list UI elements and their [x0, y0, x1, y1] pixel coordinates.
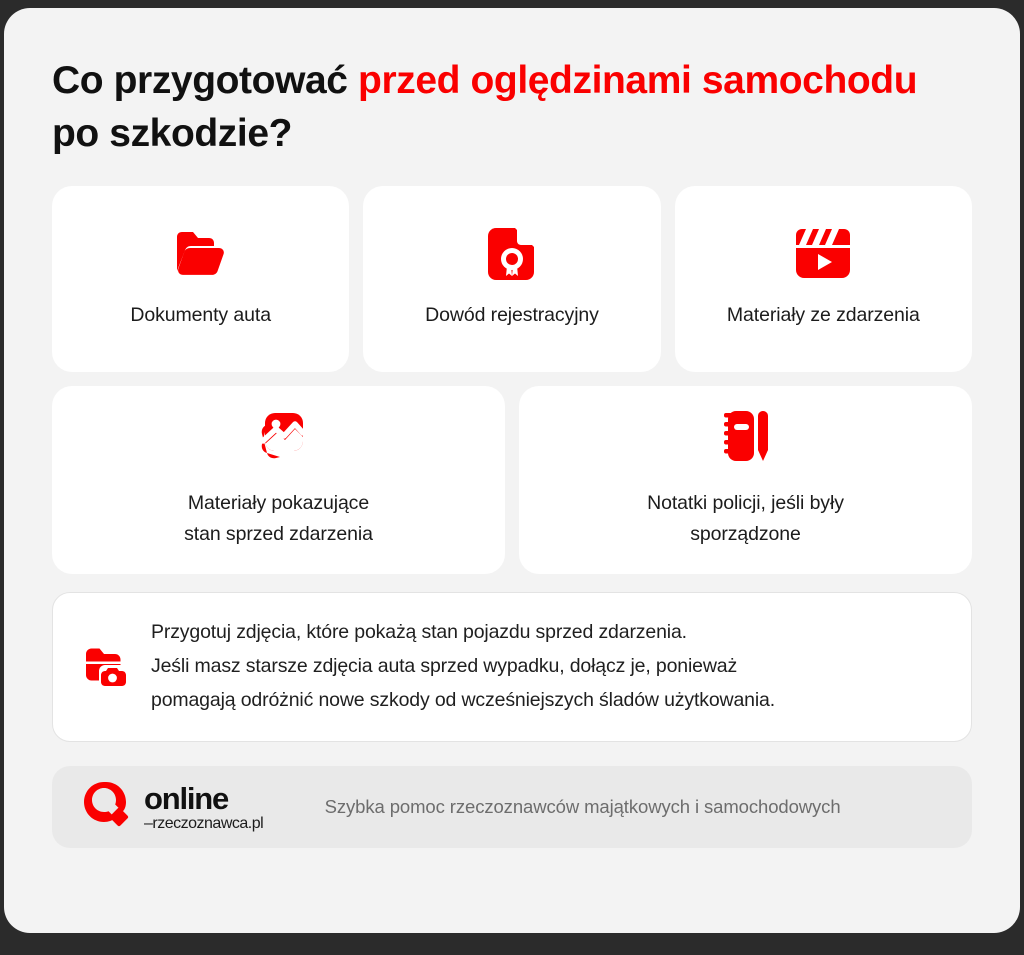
photo-stack-icon [251, 410, 307, 464]
q-logo-icon [82, 780, 134, 835]
card-materialy-ze-zdarzenia[interactable]: Materiały ze zdarzenia [675, 186, 972, 372]
card-label: Dokumenty auta [130, 300, 271, 331]
folder-camera-icon [83, 646, 127, 688]
page-title: Co przygotować przed oględzinami samocho… [52, 54, 972, 160]
card-row-1: Dokumenty auta Dowód rejestracyjny [52, 186, 972, 372]
card-label: Notatki policji, jeśli były sporządzone [647, 488, 844, 550]
card-notatki-policji[interactable]: Notatki policji, jeśli były sporządzone [519, 386, 972, 574]
infographic-panel: Co przygotować przed oględzinami samocho… [4, 8, 1020, 933]
footer-tagline: Szybka pomoc rzeczoznawców majątkowych i… [223, 796, 942, 818]
folder-icon [173, 226, 229, 280]
document-seal-icon [488, 226, 536, 280]
title-part-1: Co przygotować [52, 59, 358, 102]
notebook-pen-icon [721, 410, 771, 464]
card-label: Materiały pokazujące stan sprzed zdarzen… [184, 488, 373, 550]
card-dowod-rejestracyjny[interactable]: Dowód rejestracyjny [363, 186, 660, 372]
outer-frame: Co przygotować przed oględzinami samocho… [0, 0, 1024, 955]
card-label: Dowód rejestracyjny [425, 300, 599, 331]
footer-bar: online –rzeczoznawca.pl Szybka pomoc rze… [52, 766, 972, 848]
card-dokumenty-auta[interactable]: Dokumenty auta [52, 186, 349, 372]
title-part-2: po szkodzie? [52, 112, 292, 155]
clapperboard-icon [796, 226, 850, 280]
card-label: Materiały ze zdarzenia [727, 300, 920, 331]
title-highlight: przed oględzinami samochodu [358, 59, 917, 102]
note-text: Przygotuj zdjęcia, które pokażą stan poj… [151, 616, 775, 718]
card-materialy-pokazujace[interactable]: Materiały pokazujące stan sprzed zdarzen… [52, 386, 505, 574]
note-box: Przygotuj zdjęcia, które pokażą stan poj… [52, 592, 972, 742]
card-row-2: Materiały pokazujące stan sprzed zdarzen… [52, 386, 972, 574]
